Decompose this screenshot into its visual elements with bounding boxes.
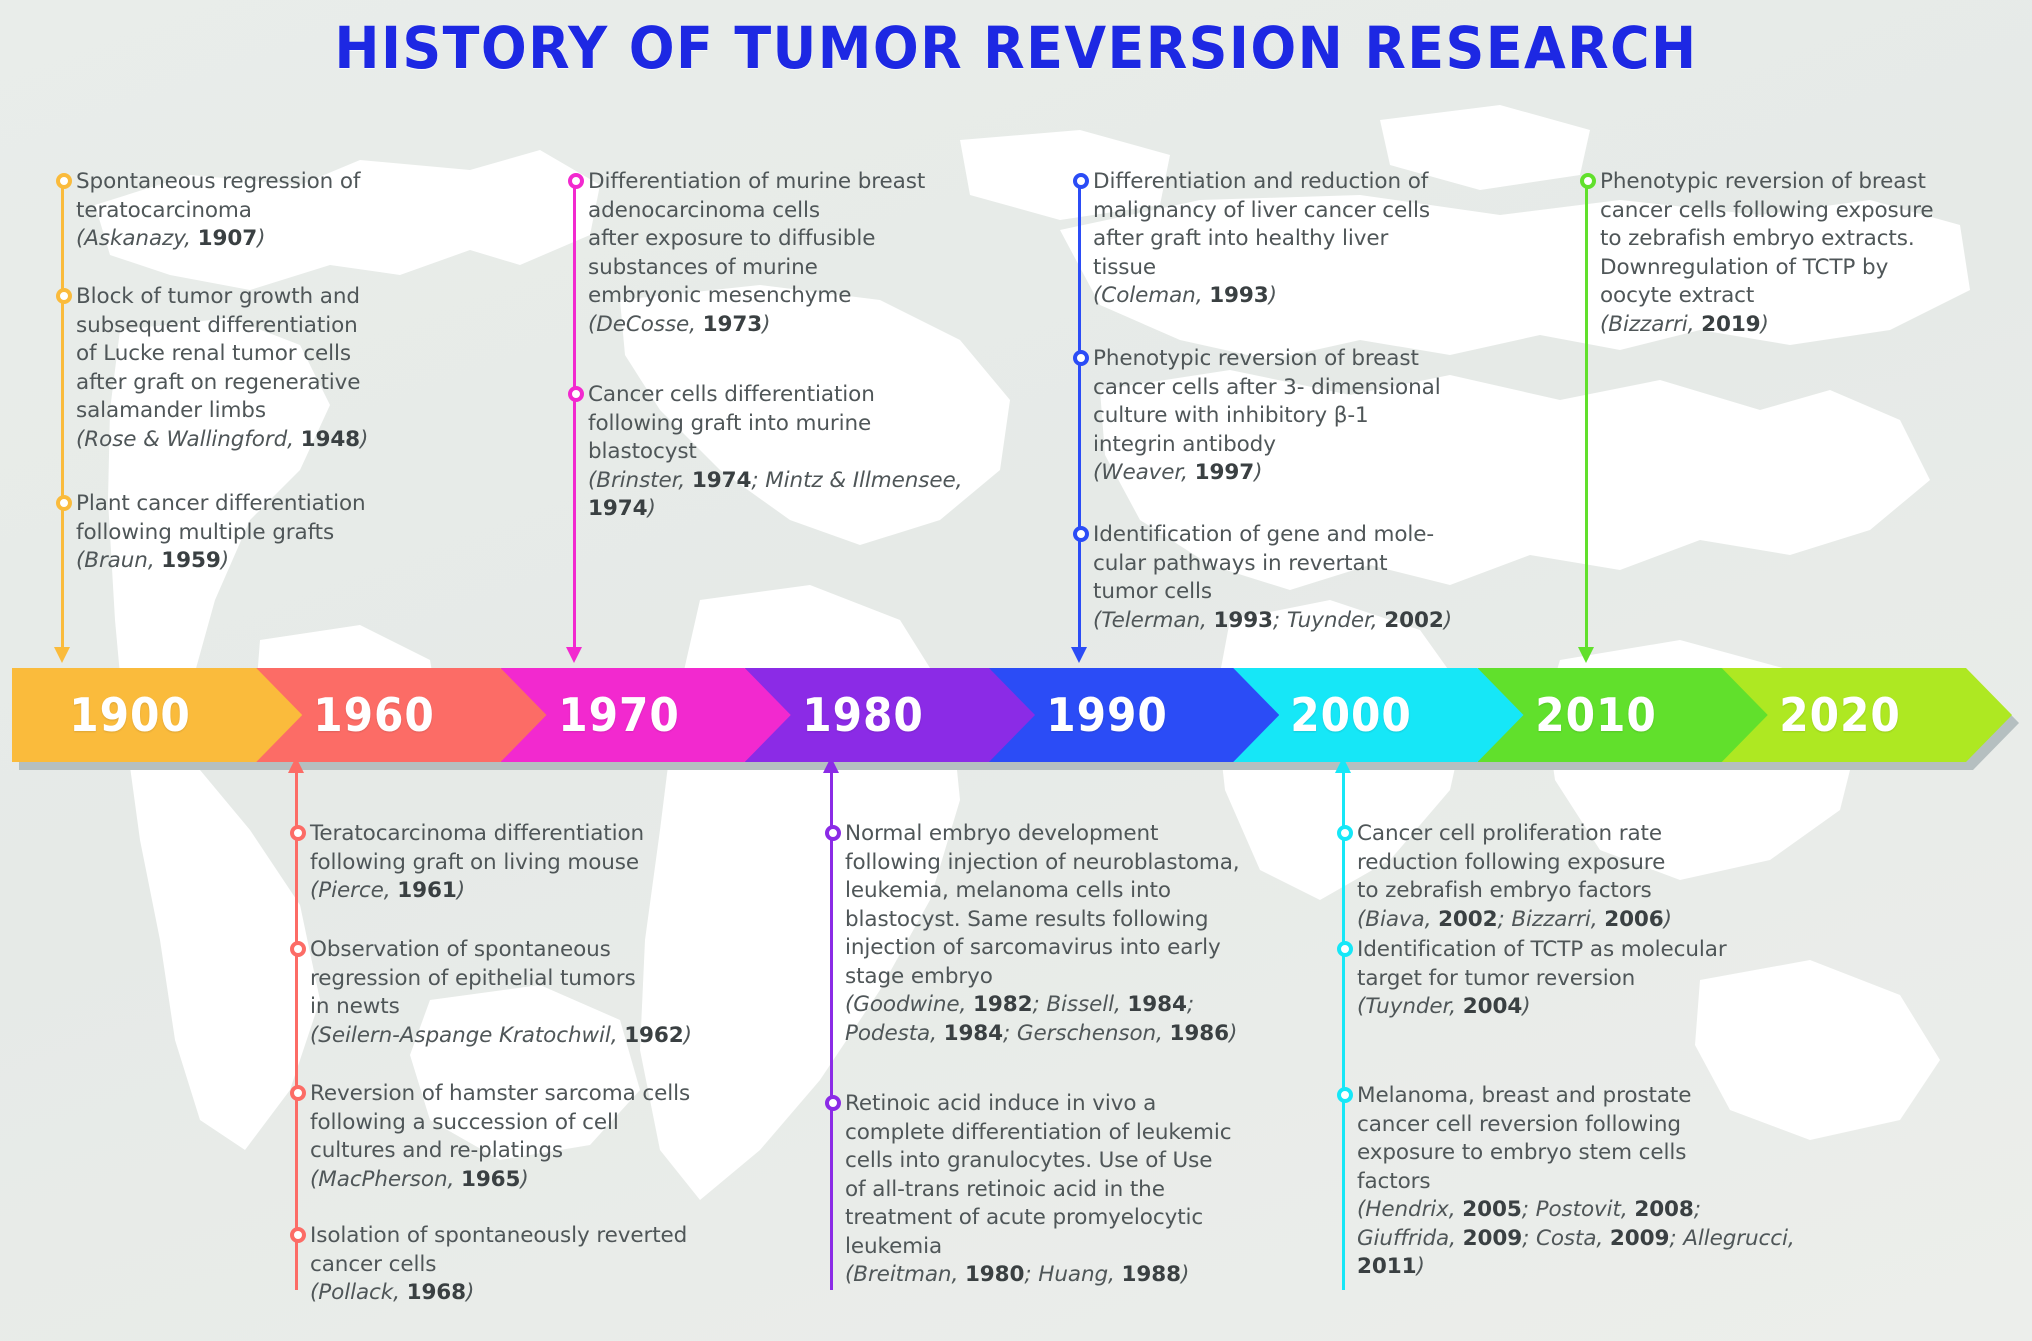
connector-arrow-icon [1071,647,1087,663]
timeline-segment-label: 2000 [1291,688,1412,742]
connector-arrow-icon [566,647,582,663]
timeline-segment-1900[interactable]: 1900 [12,668,302,762]
entry-citation: (Coleman, 1993) [1093,283,1277,308]
entry-text: Teratocarcinoma differentiation followin… [310,820,710,877]
entry-citation: (Bizzarri, 2019) [1600,312,1769,337]
entry-citation: (Weaver, 1997) [1093,460,1262,485]
entry-text: Reversion of hamster sarcoma cells follo… [310,1080,710,1166]
timeline-segment-label: 1980 [802,688,923,742]
infographic-canvas: HISTORY OF TUMOR REVERSION RESEARCH 1900… [0,0,2032,1341]
connector-line [1585,176,1588,648]
timeline-entry: Reversion of hamster sarcoma cells follo… [310,1080,710,1194]
timeline-bar: 19001960197019801990200020102020 [12,668,2022,772]
connector-arrow-icon [54,647,70,663]
connector-line [1078,176,1081,648]
entry-text: Retinoic acid induce in vivo a complete … [845,1090,1275,1261]
connector-col-1970 [573,176,576,648]
entry-text: Cancer cell proliferation rate reduction… [1357,820,1797,906]
entry-citation: (Hendrix, 2005; Postovit, 2008; Giuffrid… [1357,1197,1795,1279]
entry-marker-icon [568,386,584,402]
connector-col-1990 [1078,176,1081,648]
connector-line [573,176,576,648]
timeline-entry: Identification of gene and mole- cular p… [1093,521,1493,635]
timeline-segment-label: 2010 [1535,688,1656,742]
timeline-entry: Differentiation and reduction of maligna… [1093,168,1493,311]
entry-text: Differentiation of murine breast adenoca… [588,168,968,311]
entry-citation: (Biava, 2002; Bizzarri, 2006) [1357,907,1672,932]
timeline-entry: Normal embryo development following inje… [845,820,1275,1048]
connector-col-1900 [61,176,64,648]
entry-citation: (Goodwine, 1982; Bissell, 1984; Podesta,… [845,992,1237,1046]
entry-text: Spontaneous regression of teratocarcinom… [76,168,376,225]
connector-line [61,176,64,648]
entry-marker-icon [290,825,306,841]
entry-marker-icon [825,825,841,841]
entry-marker-icon [1580,173,1596,189]
entry-citation: (Pierce, 1961) [310,878,465,903]
timeline-entry: Plant cancer differentiation following m… [76,490,376,576]
entry-citation: (Tuynder, 2004) [1357,994,1531,1019]
timeline-entry: Differentiation of murine breast adenoca… [588,168,968,339]
timeline-segment-label: 1960 [314,688,435,742]
entry-marker-icon [56,495,72,511]
connector-col-1960 [295,772,298,1290]
entry-text: Plant cancer differentiation following m… [76,490,376,547]
connector-line [295,772,298,1290]
timeline-entry: Isolation of spontaneously reverted canc… [310,1222,710,1308]
entry-citation: (Braun, 1959) [76,548,229,573]
timeline-entry: Cancer cell proliferation rate reduction… [1357,820,1797,934]
connector-col-2000 [1342,772,1345,1290]
entry-citation: (Rose & Wallingford, 1948) [76,427,368,452]
connector-col-2010 [1585,176,1588,648]
timeline-entry: Observation of spontaneous regression of… [310,936,710,1050]
entry-text: Phenotypic reversion of breast cancer ce… [1093,345,1493,459]
connector-line [830,772,833,1290]
entry-text: Identification of TCTP as molecular targ… [1357,936,1797,993]
entry-citation: (DeCosse, 1973) [588,312,770,337]
entry-marker-icon [1073,173,1089,189]
entry-marker-icon [1073,526,1089,542]
timeline-segment-label: 1900 [69,688,190,742]
entry-marker-icon [290,941,306,957]
entry-marker-icon [1073,350,1089,366]
entry-citation: (Breitman, 1980; Huang, 1988) [845,1262,1189,1287]
timeline-entry: Retinoic acid induce in vivo a complete … [845,1090,1275,1290]
entry-marker-icon [56,288,72,304]
entry-text: Phenotypic reversion of breast cancer ce… [1600,168,2000,311]
entry-citation: (MacPherson, 1965) [310,1167,529,1192]
entry-marker-icon [1337,941,1353,957]
timeline-entry: Teratocarcinoma differentiation followin… [310,820,710,906]
entry-marker-icon [290,1227,306,1243]
entry-text: Observation of spontaneous regression of… [310,936,710,1022]
entry-text: Melanoma, breast and prostate cancer cel… [1357,1082,1797,1196]
timeline-entry: Phenotypic reversion of breast cancer ce… [1093,345,1493,488]
entry-citation: (Pollack, 1968) [310,1280,474,1305]
entry-text: Normal embryo development following inje… [845,820,1275,991]
entry-text: Differentiation and reduction of maligna… [1093,168,1493,282]
connector-line [1342,772,1345,1290]
page-title: HISTORY OF TUMOR REVERSION RESEARCH [71,14,1961,82]
entry-citation: (Brinster, 1974; Mintz & Illmensee, 1974… [588,468,962,522]
entry-text: Isolation of spontaneously reverted canc… [310,1222,710,1279]
timeline-segment-label: 1970 [558,688,679,742]
connector-arrow-icon [1578,647,1594,663]
entry-text: Block of tumor growth and subsequent dif… [76,283,376,426]
entry-marker-icon [1337,1087,1353,1103]
entry-citation: (Askanazy, 1907) [76,226,265,251]
timeline-segment-label: 1990 [1046,688,1167,742]
timeline-entry: Identification of TCTP as molecular targ… [1357,936,1797,1022]
timeline-entry: Melanoma, breast and prostate cancer cel… [1357,1082,1797,1282]
timeline-segment-label: 2020 [1779,688,1900,742]
timeline-entry: Phenotypic reversion of breast cancer ce… [1600,168,2000,339]
connector-col-1980 [830,772,833,1290]
entry-text: Cancer cells differentiation following g… [588,381,968,467]
timeline-entry: Spontaneous regression of teratocarcinom… [76,168,376,254]
timeline-entry: Block of tumor growth and subsequent dif… [76,283,376,454]
entry-text: Identification of gene and mole- cular p… [1093,521,1493,607]
entry-marker-icon [568,173,584,189]
entry-citation: (Telerman, 1993; Tuynder, 2002) [1093,608,1452,633]
entry-marker-icon [825,1095,841,1111]
entry-marker-icon [290,1085,306,1101]
entry-marker-icon [56,173,72,189]
timeline-entry: Cancer cells differentiation following g… [588,381,968,524]
entry-citation: (Seilern-Aspange Kratochwil, 1962) [310,1023,692,1048]
entry-marker-icon [1337,825,1353,841]
